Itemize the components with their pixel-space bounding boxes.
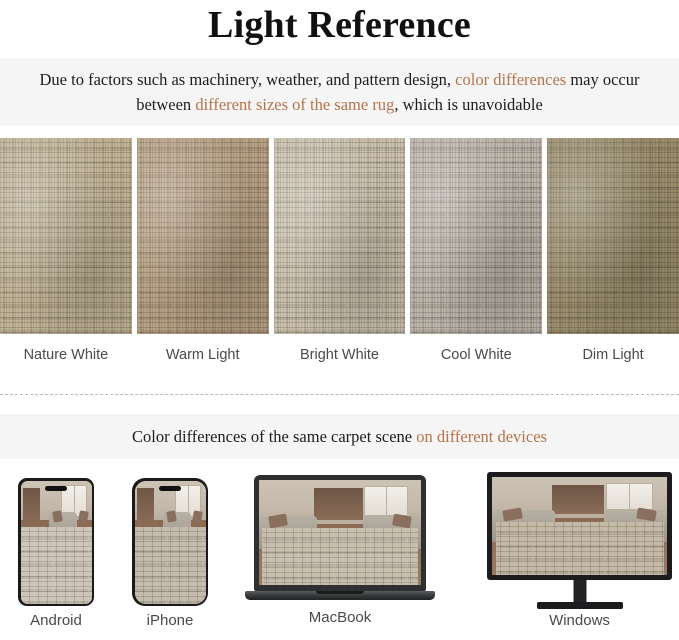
scene-rug — [496, 522, 664, 575]
scene-window — [364, 486, 408, 515]
monitor-neck — [573, 580, 586, 604]
section-divider — [0, 394, 679, 395]
swatch-cool-white — [410, 138, 542, 334]
room-scene — [492, 477, 667, 575]
notice-part-3: , which is unavoidable — [394, 95, 542, 114]
devices-heading-plain: Color differences of the same carpet sce… — [132, 427, 416, 446]
swatch-label-nature-white: Nature White — [0, 343, 132, 367]
swatch-dim-light — [547, 138, 679, 334]
android-phone-screen — [21, 481, 92, 604]
rug-texture-overlay — [0, 138, 132, 334]
devices-heading-banner: Color differences of the same carpet sce… — [0, 414, 679, 459]
iphone-phone-screen — [135, 481, 206, 604]
page-title: Light Reference — [0, 0, 679, 47]
scene-fireplace — [137, 488, 154, 522]
macbook-lid — [254, 475, 426, 591]
rug-texture-overlay — [274, 138, 406, 334]
swatch-label-warm-light: Warm Light — [137, 343, 269, 367]
device-caption-iphone: iPhone — [132, 612, 208, 629]
scene-window — [606, 483, 654, 510]
device-caption-macbook: MacBook — [245, 609, 435, 626]
notice-accent-2: different sizes of the same rug — [195, 95, 394, 114]
monitor-bezel — [487, 472, 672, 580]
rug-texture — [262, 528, 418, 585]
notice-accent-1: color differences — [455, 70, 566, 89]
monitor-foot — [537, 602, 623, 609]
android-phone-body — [18, 478, 94, 606]
rug-texture — [21, 527, 92, 603]
swatch-label-cool-white: Cool White — [410, 343, 542, 367]
device-android: Android — [18, 478, 94, 606]
devices-heading-accent: on different devices — [416, 427, 547, 446]
swatch-label-row: Nature White Warm Light Bright White Coo… — [0, 343, 679, 367]
swatch-strip — [0, 138, 679, 334]
device-windows: Windows — [487, 472, 672, 610]
notice-banner: Due to factors such as machinery, weathe… — [0, 58, 679, 126]
camera-notch-icon — [45, 486, 67, 491]
device-caption-windows: Windows — [487, 612, 672, 629]
rug-texture — [496, 522, 664, 575]
notice-part-1: Due to factors such as machinery, weathe… — [40, 70, 456, 89]
swatch-warm-light — [137, 138, 269, 334]
swatch-bright-white — [274, 138, 406, 334]
scene-rug — [21, 527, 92, 603]
device-caption-android: Android — [18, 612, 94, 629]
room-scene — [259, 480, 421, 585]
scene-fireplace — [23, 488, 40, 522]
device-iphone: iPhone — [132, 478, 208, 606]
rug-texture — [135, 527, 206, 603]
devices-row: Android iPhone — [0, 470, 679, 640]
scene-pillow — [268, 513, 288, 527]
room-scene — [135, 481, 206, 604]
dynamic-island-icon — [159, 486, 181, 491]
devices-heading-text: Color differences of the same carpet sce… — [132, 427, 547, 447]
iphone-phone-body — [132, 478, 208, 606]
swatch-nature-white — [0, 138, 132, 334]
scene-pillow — [393, 513, 413, 527]
scene-fireplace — [314, 488, 363, 520]
rug-texture-overlay — [410, 138, 542, 334]
room-scene — [21, 481, 92, 604]
scene-fireplace — [552, 485, 605, 514]
rug-texture-overlay — [547, 138, 679, 334]
scene-rug — [135, 527, 206, 603]
device-macbook: MacBook — [245, 475, 435, 607]
notice-text: Due to factors such as machinery, weathe… — [8, 67, 672, 117]
rug-texture-overlay — [137, 138, 269, 334]
monitor-screen — [492, 477, 667, 575]
swatch-label-bright-white: Bright White — [274, 343, 406, 367]
macbook-base — [245, 591, 435, 600]
swatch-label-dim-light: Dim Light — [547, 343, 679, 367]
macbook-screen — [259, 480, 421, 585]
scene-rug — [262, 528, 418, 585]
